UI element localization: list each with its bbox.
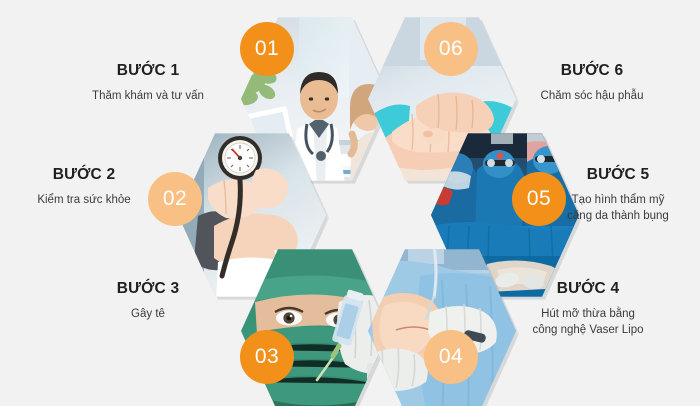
step-title-5: BƯỚC 5 [536, 166, 700, 185]
step-title-4: BƯỚC 4 [492, 280, 684, 299]
step-badge-4[interactable]: 04 [424, 330, 478, 384]
step-diagram: 01 [0, 0, 700, 406]
step-desc-4: Hút mỡ thừa bằng công nghệ Vaser Lipo [492, 306, 684, 339]
step-desc-2: Kiểm tra sức khỏe [0, 192, 168, 209]
step-title-3: BƯỚC 3 [58, 280, 238, 299]
step-desc-6: Chăm sóc hậu phẫu [496, 88, 688, 105]
step-badge-label-1: 01 [255, 37, 279, 61]
step-title-2: BƯỚC 2 [0, 166, 168, 185]
step-badge-label-4: 04 [439, 345, 463, 369]
step-desc-3: Gây tê [58, 306, 238, 323]
step-label-5: BƯỚC 5 Tạo hình thẩm mỹ căng da thành bụ… [536, 166, 700, 225]
step-desc-5: Tạo hình thẩm mỹ căng da thành bụng [536, 192, 700, 225]
step-title-6: BƯỚC 6 [496, 62, 688, 81]
step-desc-1: Thăm khám và tư vấn [58, 88, 238, 105]
step-label-6: BƯỚC 6 Chăm sóc hậu phẫu [496, 62, 688, 104]
step-label-4: BƯỚC 4 Hút mỡ thừa bằng công nghệ Vaser … [492, 280, 684, 339]
step-label-1: BƯỚC 1 Thăm khám và tư vấn [58, 62, 238, 104]
step-badge-label-3: 03 [255, 345, 279, 369]
step-label-2: BƯỚC 2 Kiểm tra sức khỏe [0, 166, 168, 208]
step-label-3: BƯỚC 3 Gây tê [58, 280, 238, 322]
step-badge-1[interactable]: 01 [240, 22, 294, 76]
step-badge-6[interactable]: 06 [424, 22, 478, 76]
step-badge-label-6: 06 [439, 37, 463, 61]
step-title-1: BƯỚC 1 [58, 62, 238, 81]
step-badge-3[interactable]: 03 [240, 330, 294, 384]
